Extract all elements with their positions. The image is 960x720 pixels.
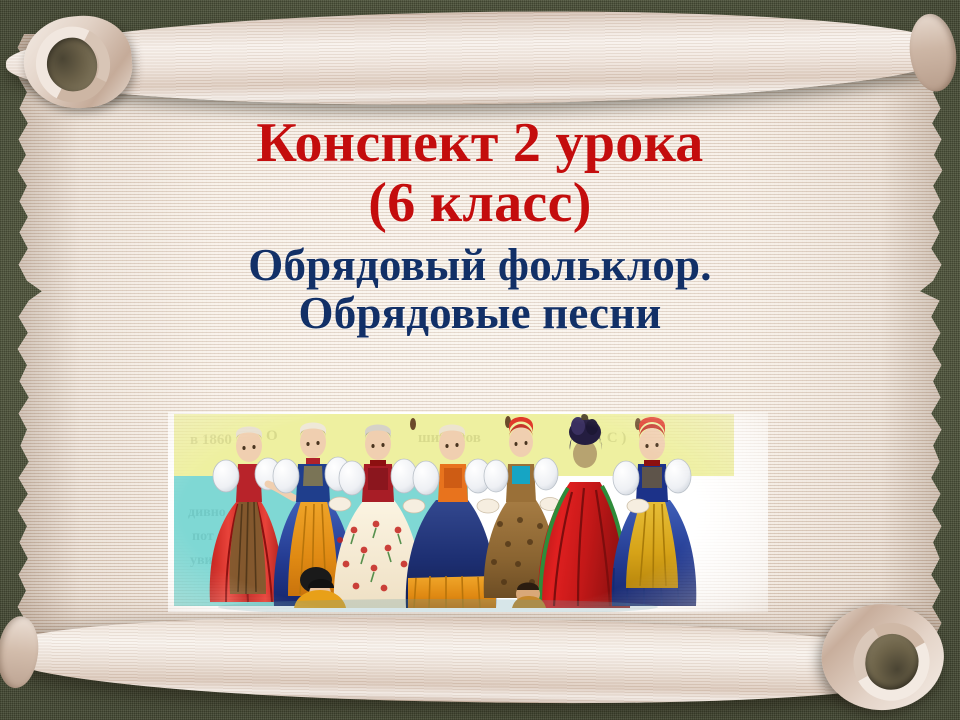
svg-text:в 1860: в 1860 [190,432,232,448]
presentation-slide: Конспект 2 урока (6 класс) Обрядовый фол… [0,0,960,720]
svg-text:пот: пот [192,529,214,544]
svg-text:О: О [266,428,278,444]
slide-subtitle-line-1: Обрядовый фольклор. [60,242,900,290]
folk-dance-illustration: в 1860 О шиманов ( C ) дивно пот увид [168,412,768,612]
slide-text-block: Конспект 2 урока (6 класс) Обрядовый фол… [60,96,900,338]
slide-subtitle-line-2: Обрядовые песни [60,290,900,338]
svg-text:( C ): ( C ) [598,430,626,446]
scroll-curl-bottom-right [812,594,948,715]
svg-text:дивно: дивно [188,505,226,520]
slide-title-line-1: Конспект 2 урока [60,114,900,172]
slide-title-line-2: (6 класс) [60,174,900,232]
folk-dance-svg: в 1860 О шиманов ( C ) дивно пот увид [168,412,768,612]
